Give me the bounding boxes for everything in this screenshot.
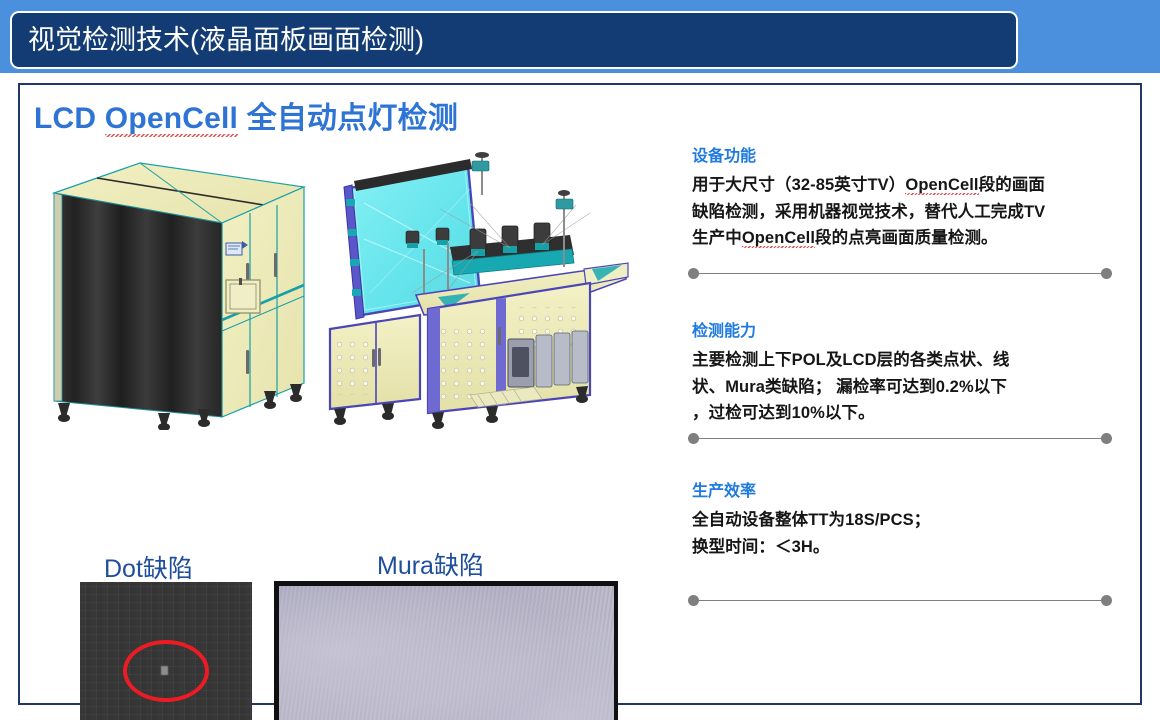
info-line: 缺陷检测，采用机器视觉技术，替代人工完成TV [692,199,1112,226]
divider-dot-left [688,433,699,444]
info-body: 主要检测上下POL及LCD层的各类点状、线 状、Mura类缺陷； 漏检率可达到0… [692,347,1112,427]
divider-dot-right [1101,268,1112,279]
page-title-prefix: LCD [34,102,105,135]
divider-dot-right [1101,433,1112,444]
info-block-inspection-capability: 检测能力 主要检测上下POL及LCD层的各类点状、线 状、Mura类缺陷； 漏检… [692,317,1112,427]
dot-defect-sample-photo [80,582,252,720]
equipment-inspection-station-icon [320,143,640,433]
divider-dot-left [688,268,699,279]
info-title: 生产效率 [692,477,1112,501]
divider-dot-left [688,595,699,606]
divider-line [699,273,1101,275]
info-line: 生产中OpenCell段的点亮画面质量检测。 [692,225,1112,252]
info-body: 全自动设备整体TT为18S/PCS； 换型时间：＜3H。 [692,507,1112,560]
divider-1 [688,268,1112,279]
divider-2 [688,433,1112,444]
mura-defect-caption: Mura缺陷 [377,546,484,582]
info-body: 用于大尺寸（32-85英寸TV）OpenCell段的画面 缺陷检测，采用机器视觉… [692,172,1112,252]
info-block-equipment-function: 设备功能 用于大尺寸（32-85英寸TV）OpenCell段的画面 缺陷检测，采… [692,142,1112,252]
divider-line [699,600,1101,602]
info-line: 状、Mura类缺陷； 漏检率可达到0.2%以下 [692,374,1112,401]
page-title: LCD OpenCell 全自动点灯检测 [34,93,458,137]
info-line: 用于大尺寸（32-85英寸TV）OpenCell段的画面 [692,172,1112,199]
slide-root: 视觉检测技术(液晶面板画面检测) LCD OpenCell 全自动点灯检测 [0,0,1160,720]
info-title: 设备功能 [692,142,1112,166]
info-title: 检测能力 [692,317,1112,341]
dot-defect-caption: Dot缺陷 [104,549,193,585]
page-title-keyword: OpenCell [105,102,238,135]
mura-defect-sample-photo [274,581,618,720]
slide-title: 视觉检测技术(液晶面板画面检测) [12,27,424,54]
info-line: ，过检可达到10%以下。 [692,400,1112,427]
divider-dot-right [1101,595,1112,606]
equipment-illustrations [20,147,660,467]
divider-line [699,438,1101,440]
defect-highlight-ellipse [123,640,209,702]
mura-panel-surface [279,586,614,720]
info-line: 主要检测上下POL及LCD层的各类点状、线 [692,347,1112,374]
info-line: 换型时间：＜3H。 [692,534,1112,561]
info-block-production-efficiency: 生产效率 全自动设备整体TT为18S/PCS； 换型时间：＜3H。 [692,477,1112,560]
divider-3 [688,595,1112,606]
equipment-dark-room-cabinet-icon [32,145,322,430]
slide-title-plate: 视觉检测技术(液晶面板画面检测) [10,11,1018,69]
page-title-suffix: 全自动点灯检测 [238,102,458,135]
info-line: 全自动设备整体TT为18S/PCS； [692,507,1112,534]
content-frame: LCD OpenCell 全自动点灯检测 [18,83,1142,705]
